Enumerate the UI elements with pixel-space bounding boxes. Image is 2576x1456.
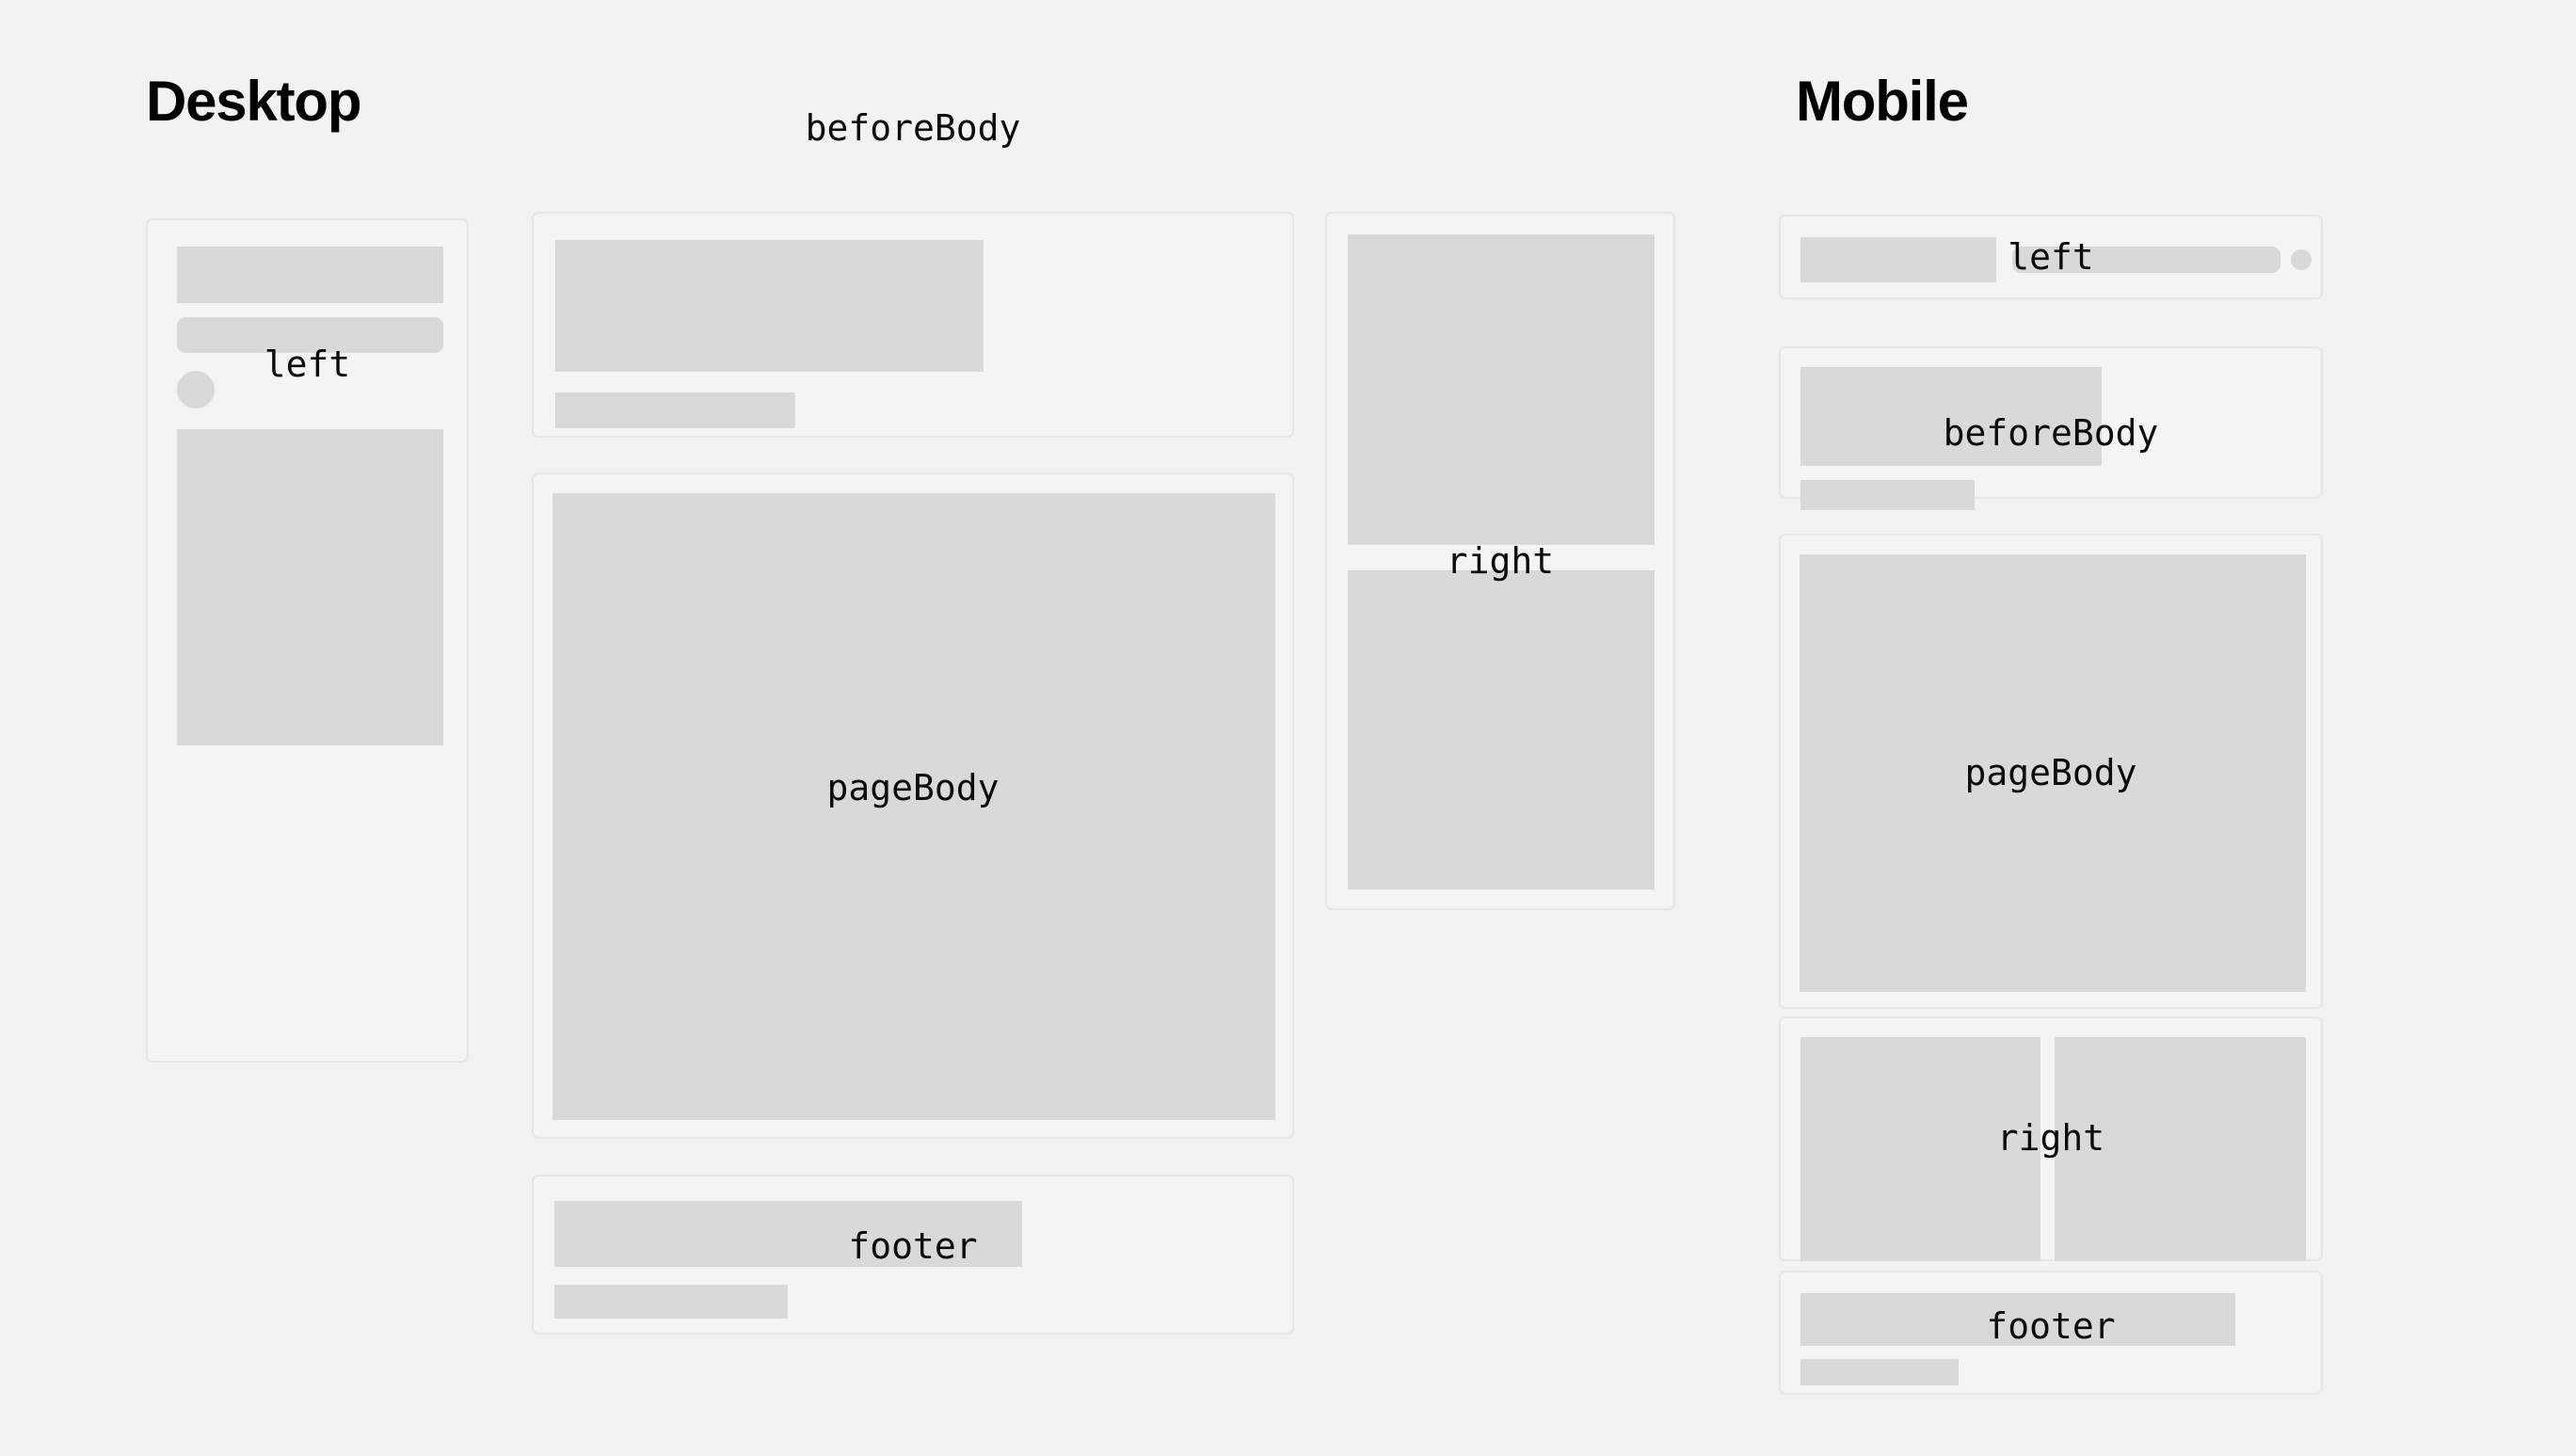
desktop-right-slot-panel[interactable]: [1325, 212, 1675, 910]
skeleton-block-rounded-bar: [177, 317, 443, 353]
desktop-pagebody-slot-panel[interactable]: [532, 472, 1294, 1139]
layout-preview-stage: Desktop Mobile left beforeBody pageBody …: [0, 0, 2576, 1456]
skeleton-block-rect: [1800, 237, 1996, 282]
mobile-left-slot-panel[interactable]: [1779, 215, 2323, 299]
skeleton-block-widget-bottom: [1348, 570, 1655, 889]
mobile-footer-slot-panel[interactable]: [1779, 1271, 2323, 1395]
skeleton-block-avatar-dot: [177, 371, 215, 408]
skeleton-block-avatar-dot: [2291, 249, 2312, 270]
skeleton-block-footer-sub: [1800, 1359, 1959, 1385]
desktop-beforebody-slot-panel[interactable]: [532, 212, 1294, 438]
skeleton-block-caption: [1800, 480, 1975, 510]
skeleton-block-content: [552, 493, 1275, 1120]
skeleton-block-tall-rect: [177, 429, 443, 745]
skeleton-block-footer-main: [1800, 1293, 2235, 1346]
skeleton-block-widget-right: [2055, 1037, 2306, 1261]
mobile-section-title: Mobile: [1796, 73, 1968, 130]
skeleton-block-rect-large: [177, 247, 443, 303]
skeleton-block-caption: [555, 392, 795, 428]
skeleton-block-content: [1800, 554, 2306, 992]
mobile-pagebody-slot-panel[interactable]: [1779, 534, 2323, 1009]
desktop-footer-slot-panel[interactable]: [532, 1175, 1294, 1335]
desktop-section-title: Desktop: [146, 73, 360, 130]
skeleton-block-hero: [555, 240, 984, 372]
skeleton-block-hero: [1800, 367, 2102, 466]
desktop-beforebody-slot-label: beforeBody: [532, 110, 1294, 146]
skeleton-block-widget-top: [1348, 234, 1655, 545]
skeleton-block-widget-left: [1800, 1037, 2040, 1261]
skeleton-block-footer-sub: [554, 1285, 788, 1319]
skeleton-block-footer-main: [554, 1201, 1022, 1267]
mobile-right-slot-panel[interactable]: [1779, 1016, 2323, 1261]
skeleton-block-rounded-bar: [2012, 247, 2280, 273]
desktop-left-slot-panel[interactable]: [146, 218, 469, 1063]
mobile-beforebody-slot-panel[interactable]: [1779, 346, 2323, 499]
